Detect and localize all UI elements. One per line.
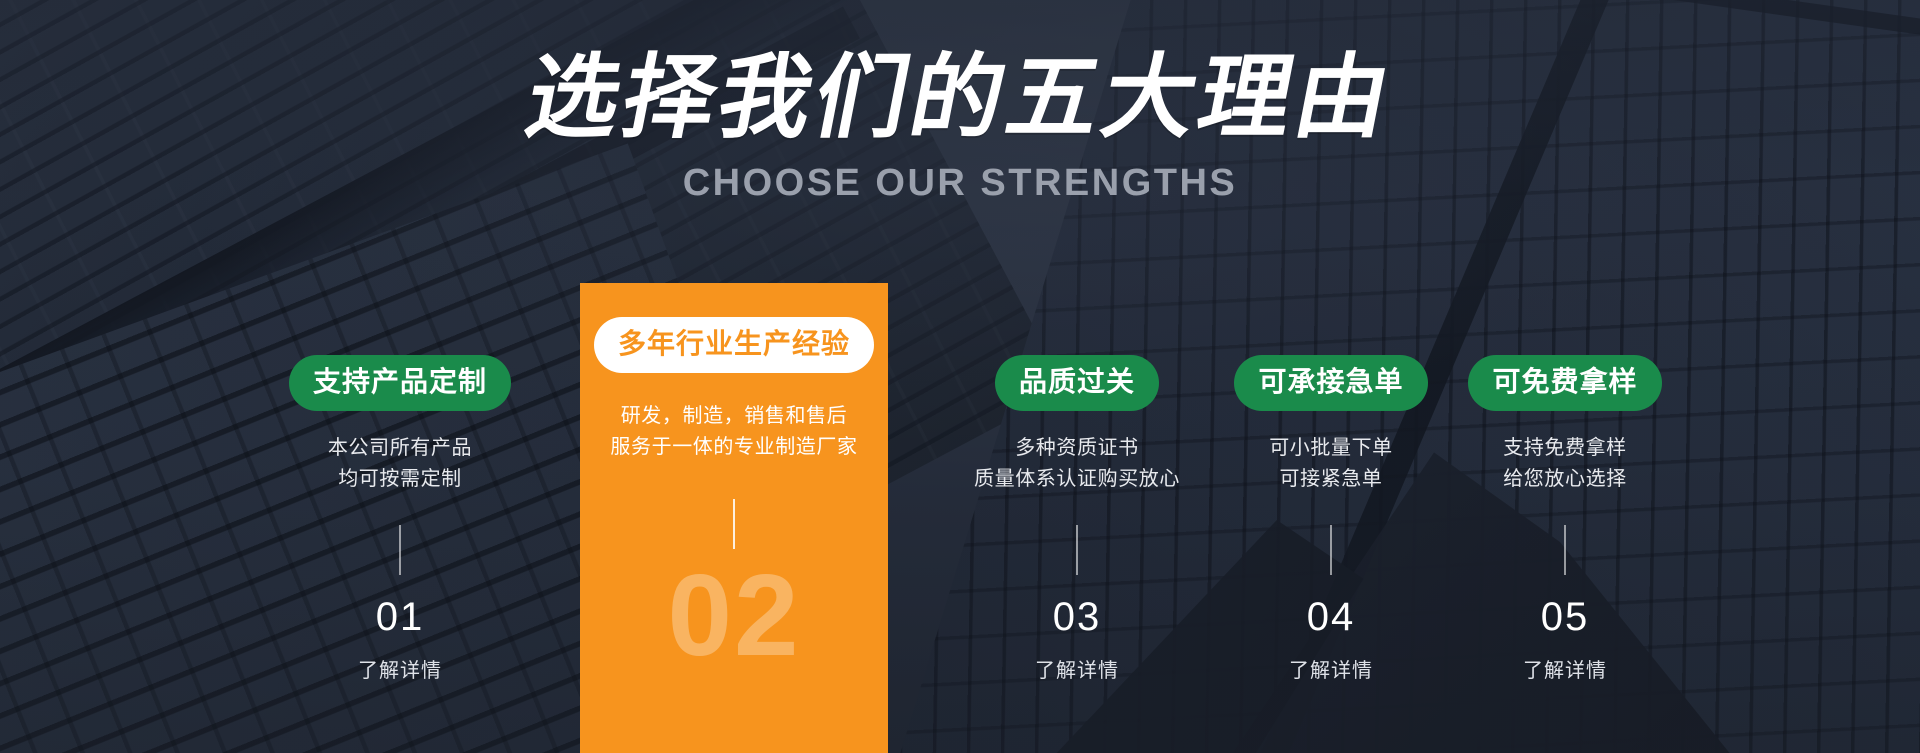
pill-wrap-4: 可承接急单 [1206, 355, 1456, 411]
strength-card-3[interactable]: 品质过关 多种资质证书 质量体系认证购买放心 03 了解详情 [952, 283, 1202, 753]
learn-more-link-3[interactable]: 了解详情 [952, 661, 1202, 681]
strength-badge-5: 可免费拿样 [1468, 355, 1661, 411]
strength-desc-4-line1: 可小批量下单 [1206, 433, 1456, 464]
strength-number-4: 04 [1206, 597, 1456, 637]
strength-desc-1-line2: 均可按需定制 [262, 464, 538, 495]
banner-header: 选择我们的五大理由 CHOOSE OUR STRENGTHS [0, 0, 1920, 202]
divider-line-4 [1330, 525, 1332, 575]
page-title: 选择我们的五大理由 [0, 52, 1920, 144]
strength-desc-2-line1: 研发，制造，销售和售后 [580, 401, 888, 432]
strength-badge-2: 多年行业生产经验 [594, 317, 874, 373]
banner-section: 选择我们的五大理由 CHOOSE OUR STRENGTHS 支持产品定制 本公… [0, 0, 1920, 753]
strength-desc-2-line2: 服务于一体的专业制造厂家 [580, 432, 888, 463]
pill-wrap-3: 品质过关 [952, 355, 1202, 411]
strength-number-5: 05 [1440, 597, 1690, 637]
learn-more-link-4[interactable]: 了解详情 [1206, 661, 1456, 681]
strength-card-5[interactable]: 可免费拿样 支持免费拿样 给您放心选择 05 了解详情 [1440, 283, 1690, 753]
strength-number-1: 01 [262, 597, 538, 637]
pill-wrap-1: 支持产品定制 [262, 355, 538, 411]
strength-desc-4: 可小批量下单 可接紧急单 [1206, 433, 1456, 495]
learn-more-link-5[interactable]: 了解详情 [1440, 661, 1690, 681]
strength-card-1[interactable]: 支持产品定制 本公司所有产品 均可按需定制 01 了解详情 [262, 283, 538, 753]
learn-more-link-1[interactable]: 了解详情 [262, 661, 538, 681]
strength-desc-2: 研发，制造，销售和售后 服务于一体的专业制造厂家 [580, 401, 888, 463]
pill-wrap-5: 可免费拿样 [1440, 355, 1690, 411]
strength-desc-5: 支持免费拿样 给您放心选择 [1440, 433, 1690, 495]
strength-badge-4: 可承接急单 [1234, 355, 1427, 411]
strength-desc-1: 本公司所有产品 均可按需定制 [262, 433, 538, 495]
strength-desc-4-line2: 可接紧急单 [1206, 464, 1456, 495]
strength-desc-5-line1: 支持免费拿样 [1440, 433, 1690, 464]
strength-desc-1-line1: 本公司所有产品 [262, 433, 538, 464]
divider-line-1 [399, 525, 401, 575]
divider-line-2 [733, 499, 735, 549]
strength-badge-3: 品质过关 [995, 355, 1159, 411]
strength-number-2: 02 [580, 557, 888, 673]
strength-card-4[interactable]: 可承接急单 可小批量下单 可接紧急单 04 了解详情 [1206, 283, 1456, 753]
pill-wrap-2: 多年行业生产经验 [580, 317, 888, 373]
strength-desc-3-line2: 质量体系认证购买放心 [952, 464, 1202, 495]
strength-desc-5-line2: 给您放心选择 [1440, 464, 1690, 495]
strength-card-2-active[interactable]: 多年行业生产经验 研发，制造，销售和售后 服务于一体的专业制造厂家 02 [580, 283, 888, 753]
strength-desc-3-line1: 多种资质证书 [952, 433, 1202, 464]
strength-card-list: 支持产品定制 本公司所有产品 均可按需定制 01 了解详情 多年行业生产经验 研… [0, 283, 1920, 753]
strength-number-3: 03 [952, 597, 1202, 637]
strength-desc-3: 多种资质证书 质量体系认证购买放心 [952, 433, 1202, 495]
page-subtitle: CHOOSE OUR STRENGTHS [0, 164, 1920, 202]
divider-line-3 [1076, 525, 1078, 575]
strength-badge-1: 支持产品定制 [289, 355, 511, 411]
divider-line-5 [1564, 525, 1566, 575]
